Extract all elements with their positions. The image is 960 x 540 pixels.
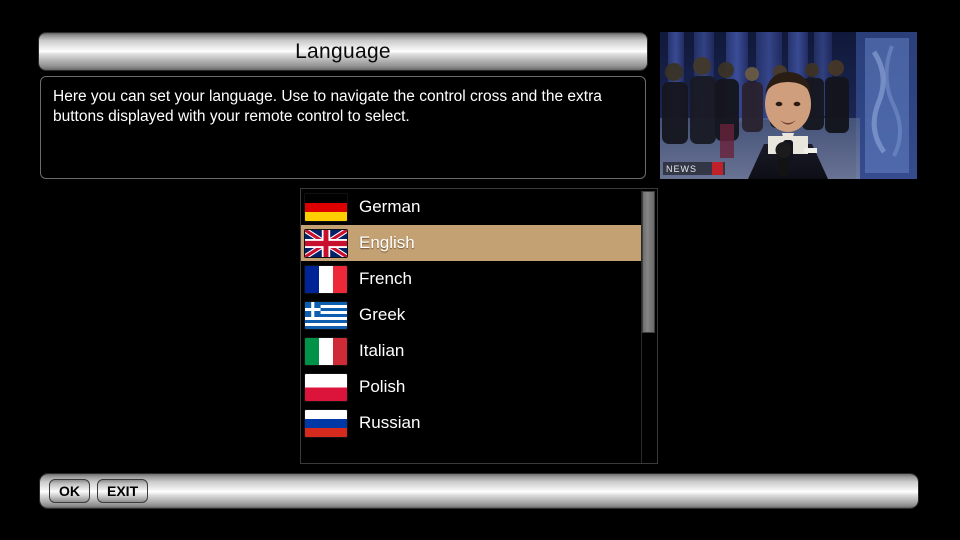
list-item[interactable]: Russian (301, 405, 641, 441)
page-title: Language (295, 40, 391, 64)
description-text: Here you can set your language. Use to n… (53, 87, 633, 127)
list-item-label: Polish (359, 377, 405, 397)
window-title-bar: Language (39, 33, 647, 70)
language-list-panel[interactable]: German English (300, 188, 658, 464)
flag-fr-icon (305, 266, 347, 293)
flag-it-icon (305, 338, 347, 365)
list-item-label: Greek (359, 305, 405, 325)
bottom-button-bar: OK EXIT (40, 474, 918, 508)
list-item-label: Italian (359, 341, 404, 361)
flag-pl-icon (305, 374, 347, 401)
exit-button[interactable]: EXIT (97, 479, 148, 503)
list-item[interactable]: French (301, 261, 641, 297)
description-panel: Here you can set your language. Use to n… (40, 76, 646, 179)
list-item-label: Russian (359, 413, 420, 433)
list-scrollbar[interactable] (641, 191, 655, 463)
list-item-label: German (359, 197, 420, 217)
flag-de-icon (305, 194, 347, 221)
list-item[interactable]: Greek (301, 297, 641, 333)
flag-gb-icon (305, 230, 347, 257)
ok-button[interactable]: OK (49, 479, 90, 503)
flag-ru-icon (305, 410, 347, 437)
osd-screen: Language Here you can set your language.… (0, 0, 960, 540)
list-item[interactable]: German (301, 189, 641, 225)
video-preview-image: NEWS (660, 32, 917, 179)
list-item[interactable]: Italian (301, 333, 641, 369)
list-item-label: French (359, 269, 412, 289)
language-list[interactable]: German English (301, 189, 641, 441)
svg-text:NEWS: NEWS (666, 164, 697, 174)
list-item-label: English (359, 233, 415, 253)
list-item[interactable]: Polish (301, 369, 641, 405)
flag-gr-icon (305, 302, 347, 329)
video-preview[interactable]: NEWS (660, 32, 917, 179)
list-scrollbar-thumb[interactable] (642, 191, 655, 333)
list-item[interactable]: English (301, 225, 641, 261)
